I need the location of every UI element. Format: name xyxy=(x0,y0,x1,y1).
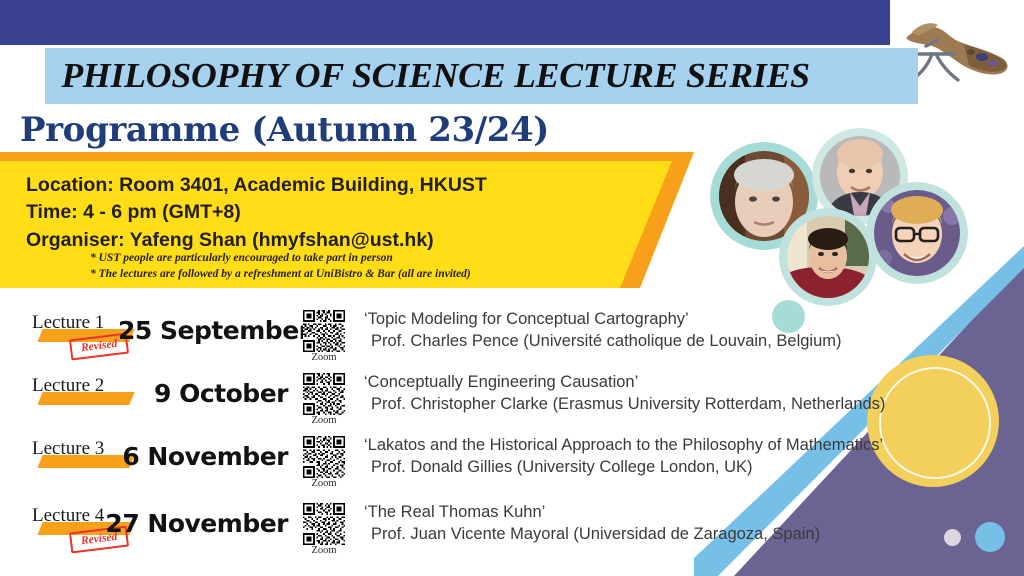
info-line-location: Location: Room 3401, Academic Building, … xyxy=(26,172,487,199)
info-line-time: Time: 4 - 6 pm (GMT+8) xyxy=(26,199,487,226)
qr-code-label: Zoom xyxy=(301,416,347,427)
lecture-presenter: Prof. Christopher Clarke (Erasmus Univer… xyxy=(364,393,885,415)
lecture-details: ‘Conceptually Engineering Causation’ Pro… xyxy=(364,371,885,416)
lecture-date: 6 November xyxy=(118,442,288,471)
speaker-photo-4 xyxy=(866,182,968,284)
poster-title-bar: PHILOSOPHY OF SCIENCE LECTURE SERIES xyxy=(45,48,918,104)
lecture-title: ‘The Real Thomas Kuhn’ xyxy=(364,503,545,521)
qr-code-icon[interactable] xyxy=(303,373,345,415)
lecture-title: ‘Conceptually Engineering Causation’ xyxy=(364,373,638,391)
qr-code-label: Zoom xyxy=(301,546,347,557)
footnote-1: * UST people are particularly encouraged… xyxy=(90,250,471,266)
qr-code-icon[interactable] xyxy=(303,436,345,478)
lecture-date: 9 October xyxy=(118,379,288,408)
zoom-qr-code[interactable]: Zoom xyxy=(301,503,347,557)
zoom-qr-code[interactable]: Zoom xyxy=(301,310,347,364)
top-navy-band xyxy=(0,0,890,45)
qr-code-icon[interactable] xyxy=(303,503,345,545)
lecture-row[interactable]: Lecture 4 Revised 27 November xyxy=(0,501,1024,563)
event-info-panel: Location: Room 3401, Academic Building, … xyxy=(0,152,700,288)
lecture-date: 25 September xyxy=(118,316,288,345)
qr-code-label: Zoom xyxy=(301,353,347,364)
lecture-presenter: Prof. Juan Vicente Mayoral (Universidad … xyxy=(364,523,820,545)
lecture-label-text: Lecture 4 xyxy=(32,505,104,527)
lecture-details: ‘The Real Thomas Kuhn’ Prof. Juan Vicent… xyxy=(364,501,820,546)
lecture-presenter: Prof. Donald Gillies (University College… xyxy=(364,456,883,478)
lecture-date: 27 November xyxy=(105,509,288,538)
lecture-row[interactable]: Lecture 3 6 November xyxy=(0,434,1024,496)
lecture-title: ‘Topic Modeling for Conceptual Cartograp… xyxy=(364,310,689,328)
lecture-details: ‘Topic Modeling for Conceptual Cartograp… xyxy=(364,308,842,353)
qr-code-label: Zoom xyxy=(301,479,347,490)
lecture-presenter: Prof. Charles Pence (Université catholiq… xyxy=(364,330,842,352)
event-info-lines: Location: Room 3401, Academic Building, … xyxy=(26,172,487,254)
page-title: PHILOSOPHY OF SCIENCE LECTURE SERIES xyxy=(45,56,810,96)
zoom-qr-code[interactable]: Zoom xyxy=(301,373,347,427)
lecture-title: ‘Lakatos and the Historical Approach to … xyxy=(364,436,883,454)
speaker-photo-3 xyxy=(779,208,877,306)
lecture-row[interactable]: Lecture 2 9 October xyxy=(0,371,1024,433)
footnote-2: * The lectures are followed by a refresh… xyxy=(90,266,471,282)
lecture-series-poster: PHILOSOPHY OF SCIENCE LECTURE SERIES Pro… xyxy=(0,0,1024,576)
lecture-label-text: Lecture 1 xyxy=(32,312,104,334)
event-footnotes: * UST people are particularly encouraged… xyxy=(90,250,471,283)
lecture-details: ‘Lakatos and the Historical Approach to … xyxy=(364,434,883,479)
lecture-label-text: Lecture 2 xyxy=(32,375,104,397)
zoom-qr-code[interactable]: Zoom xyxy=(301,436,347,490)
lecture-row[interactable]: Lecture 1 Revised 25 September xyxy=(0,308,1024,370)
lecture-label-text: Lecture 3 xyxy=(32,438,104,460)
qr-code-icon[interactable] xyxy=(303,310,345,352)
programme-heading: Programme (Autumn 23/24) xyxy=(20,110,549,150)
